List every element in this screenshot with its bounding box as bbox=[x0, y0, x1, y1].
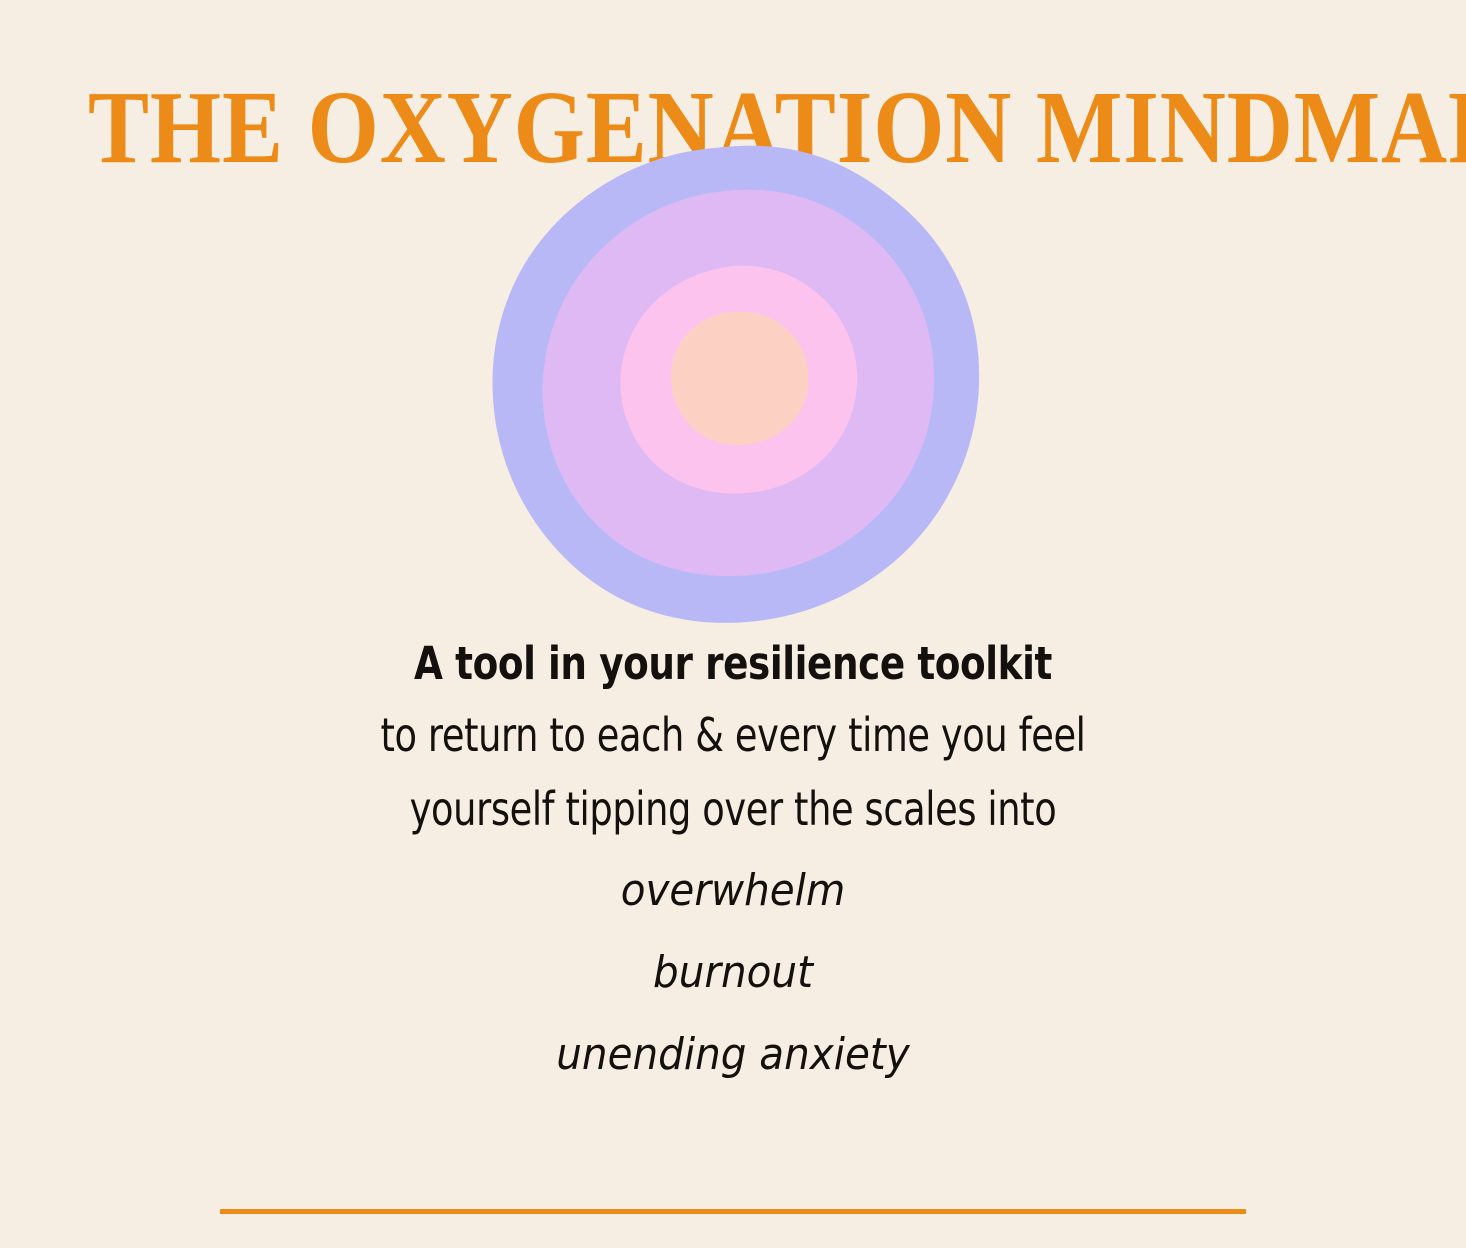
copy-block: A tool in your resilience toolkit to ret… bbox=[0, 630, 1466, 1096]
body-line-1: to return to each & every time you feel bbox=[147, 698, 1320, 772]
bottom-rule bbox=[220, 1209, 1246, 1214]
concentric-blob-diagram bbox=[489, 143, 981, 629]
body-line-2: yourself tipping over the scales into bbox=[147, 772, 1320, 846]
slide-canvas: THE OXYGENATION MINDMAP A tool in your r… bbox=[0, 0, 1466, 1248]
blob-layer-core bbox=[671, 312, 808, 445]
headline: A tool in your resilience toolkit bbox=[125, 630, 1342, 698]
emphasis-line-unending-anxiety: unending anxiety bbox=[59, 1014, 1408, 1096]
emphasis-line-burnout: burnout bbox=[59, 932, 1408, 1014]
emphasis-line-overwhelm: overwhelm bbox=[59, 850, 1408, 932]
